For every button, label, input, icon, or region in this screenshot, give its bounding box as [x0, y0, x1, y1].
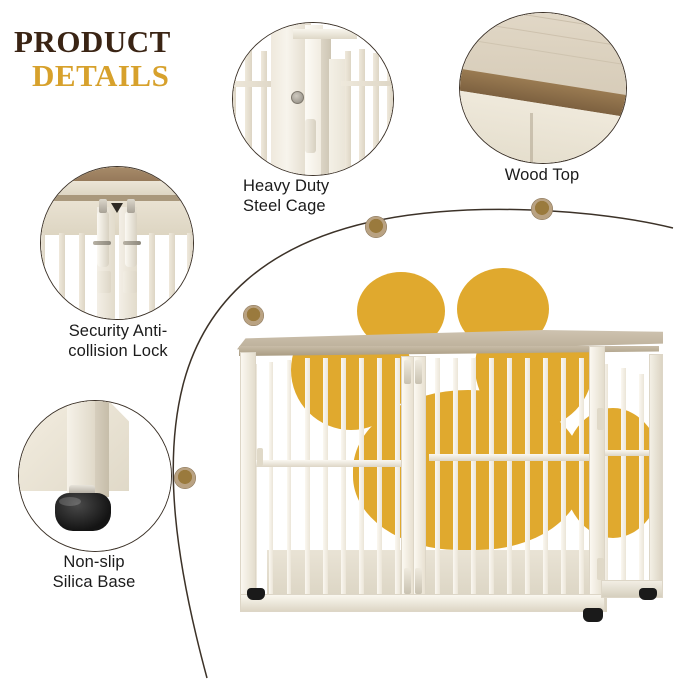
callout-image-security-anti-collision-lock — [40, 166, 194, 320]
door-latch-top-right-icon[interactable] — [415, 360, 422, 384]
hinge-left-icon — [257, 448, 263, 466]
connector-dot-silica-base — [174, 467, 196, 489]
crate-mid-rail-right — [429, 454, 604, 461]
callout-image-heavy-duty-steel-cage — [232, 22, 394, 176]
page-title-line2: DETAILS — [32, 60, 224, 93]
callout-label-security-anti-collision-lock: Security Anti- collision Lock — [22, 322, 214, 362]
callout-label-line1: Security Anti- — [22, 322, 214, 342]
page-title-line1: PRODUCT — [14, 26, 224, 58]
crate-foot-front-right — [583, 608, 603, 622]
crate-foot-back-right — [639, 588, 657, 600]
hinge-right-icon — [597, 408, 604, 430]
door-latch-top-icon[interactable] — [404, 360, 411, 384]
callout-label-heavy-duty-steel-cage: Heavy Duty Steel Cage — [243, 177, 393, 217]
crate-bottom-rail-front — [240, 594, 605, 612]
connector-dot-wood-top — [531, 198, 553, 220]
callout-label-line2: collision Lock — [22, 342, 214, 362]
callout-label-line1: Non-slip — [14, 553, 174, 573]
callout-label-wood-top: Wood Top — [459, 166, 625, 186]
crate-post-front-left — [240, 352, 256, 608]
hinge-right-lower-icon — [597, 558, 604, 580]
callout-label-line1: Wood Top — [459, 166, 625, 186]
callout-image-wood-top — [459, 12, 627, 164]
latch-right-icon — [125, 211, 137, 267]
crate-foot-front-left — [247, 588, 265, 600]
callout-label-line2: Steel Cage — [243, 197, 393, 217]
crate-mid-rail-left — [249, 460, 409, 467]
callout-label-non-slip-silica-base: Non-slip Silica Base — [14, 553, 174, 593]
paw-toe-far-right — [563, 408, 663, 538]
product-image-dog-crate — [235, 258, 665, 668]
door-latch-bottom-icon[interactable] — [404, 568, 411, 594]
infographic-canvas: PRODUCT DETAILS — [0, 0, 679, 680]
latch-left-icon — [97, 211, 109, 267]
connector-dot-steel-cage — [365, 216, 387, 238]
page-title: PRODUCT DETAILS — [14, 26, 224, 92]
callout-label-line1: Heavy Duty — [243, 177, 393, 197]
callout-image-non-slip-silica-base — [18, 400, 172, 552]
paw-pad-main — [353, 390, 583, 550]
door-latch-bottom-right-icon[interactable] — [415, 568, 422, 594]
lock-cylinder-icon — [291, 91, 304, 104]
callout-label-line2: Silica Base — [14, 573, 174, 593]
crate-post-back-right — [649, 354, 663, 592]
